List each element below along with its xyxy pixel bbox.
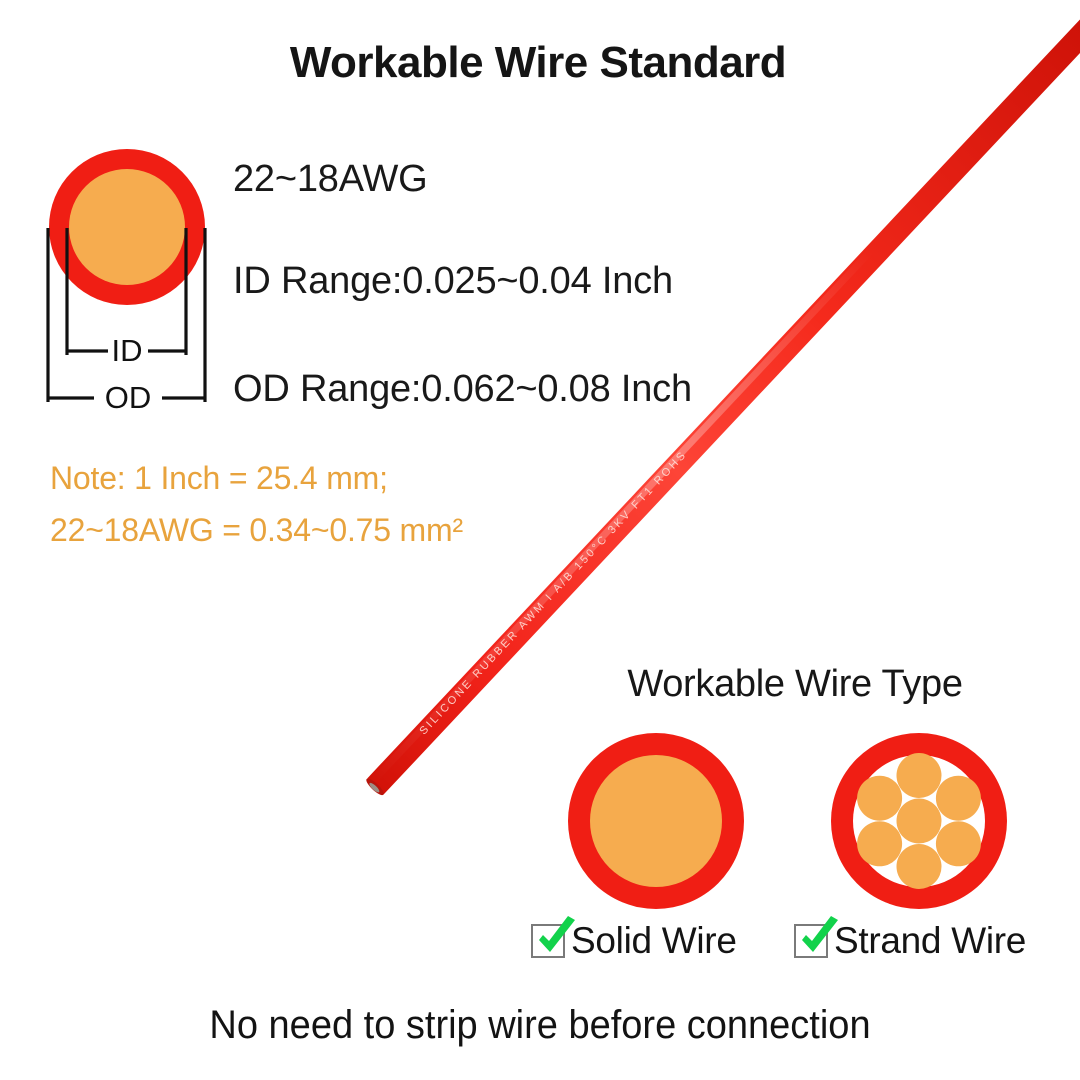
strand-n [897, 753, 942, 798]
strand-nw [857, 776, 902, 821]
strand-center [897, 799, 942, 844]
infographic-canvas: Workable Wire Standard ID OD 22~18AWG ID… [0, 0, 1080, 1080]
wire-cross-section-diagram: ID OD [30, 140, 230, 430]
solid-wire-checkbox[interactable] [531, 924, 565, 958]
spec-id-range: ID Range:0.025~0.04 Inch [233, 260, 673, 303]
strand-wire-checkbox[interactable] [794, 924, 828, 958]
note-line-inch-mm: Note: 1 Inch = 25.4 mm; [50, 452, 463, 504]
page-title: Workable Wire Standard [0, 38, 1080, 88]
strand-wire-diagram [830, 732, 1008, 910]
page-title-text: Workable Wire Standard [290, 38, 786, 88]
strand-sw [857, 821, 902, 866]
solid-wire-diagram [567, 732, 745, 910]
strand-ne [936, 776, 981, 821]
spec-awg-range: 22~18AWG [233, 158, 428, 201]
strand-wire-label: Strand Wire [834, 920, 1026, 962]
strand-se [936, 821, 981, 866]
strand-wire-option[interactable]: Strand Wire [794, 918, 1026, 964]
wire-type-heading: Workable Wire Type [560, 663, 1030, 706]
od-dimension-label: OD [105, 380, 152, 415]
solid-wire-conductor [590, 755, 722, 887]
checkmark-icon [531, 914, 581, 964]
id-dimension-label: ID [112, 333, 143, 368]
solid-wire-option[interactable]: Solid Wire [531, 918, 737, 964]
footer-caption: No need to strip wire before connection [27, 1003, 1053, 1048]
strand-s [897, 844, 942, 889]
conductor-core [69, 169, 185, 285]
note-line-awg-mm2: 22~18AWG = 0.34~0.75 mm² [50, 504, 463, 556]
checkmark-icon [794, 914, 844, 964]
solid-wire-label: Solid Wire [571, 920, 737, 962]
unit-conversion-note: Note: 1 Inch = 25.4 mm; 22~18AWG = 0.34~… [50, 452, 463, 556]
spec-od-range: OD Range:0.062~0.08 Inch [233, 368, 692, 411]
